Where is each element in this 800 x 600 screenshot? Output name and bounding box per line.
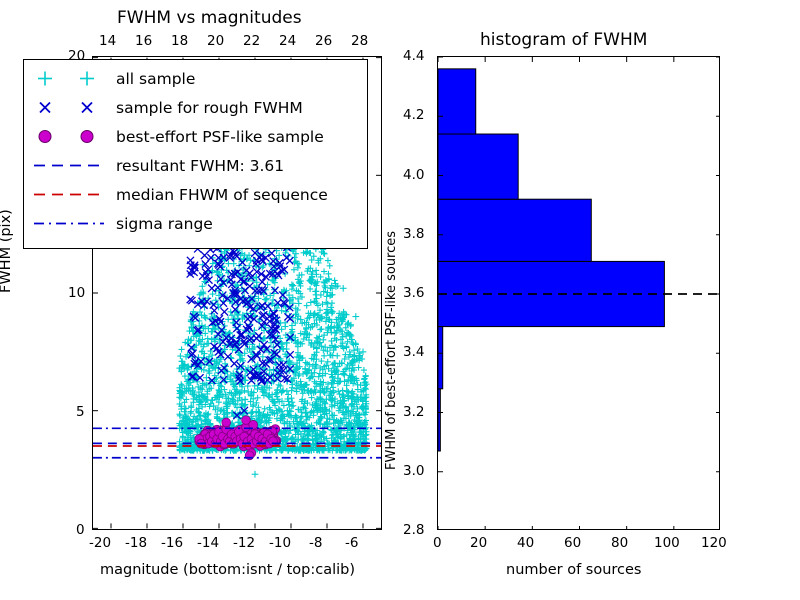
right-xtick-1: 20 <box>470 535 487 551</box>
left-xtick-top-7: 28 <box>351 33 368 49</box>
left-xtick-bottom-5: -10 <box>269 535 291 551</box>
left-panel-title: FWHM vs magnitudes <box>117 8 302 28</box>
legend-item-rough-fwhm[interactable]: sample for rough FWHM <box>24 93 367 122</box>
legend-item-sigma-range[interactable]: sigma range <box>24 209 367 238</box>
right-plot-area[interactable] <box>437 56 720 530</box>
right-ytick-1: 3.0 <box>403 463 424 479</box>
cross-marker-icon <box>24 93 116 122</box>
histogram-layer <box>438 57 720 530</box>
left-xtick-top-0: 14 <box>99 33 116 49</box>
right-xtick-4: 80 <box>611 535 628 551</box>
left-xtick-top-6: 26 <box>315 33 332 49</box>
legend-item-median-fwhm[interactable]: median FHWM of sequence <box>24 180 367 209</box>
right-xtick-3: 60 <box>564 535 581 551</box>
legend-label-sigma-range: sigma range <box>116 215 213 233</box>
legend-label-all-sample: all sample <box>116 70 195 88</box>
left-ytick-0: 0 <box>76 522 85 538</box>
left-ytick-2: 10 <box>68 285 85 301</box>
left-xtick-bottom-6: -8 <box>309 535 322 551</box>
right-xtick-2: 40 <box>517 535 534 551</box>
right-panel-title: histogram of FWHM <box>480 30 647 50</box>
left-yaxis-title: FWHM (pix) <box>0 209 14 293</box>
left-xtick-bottom-1: -18 <box>125 535 147 551</box>
right-ytick-4: 3.6 <box>403 285 424 301</box>
right-ytick-8: 4.4 <box>403 48 424 64</box>
left-xtick-top-1: 16 <box>135 33 152 49</box>
left-xtick-top-4: 22 <box>243 33 260 49</box>
left-xtick-top-3: 20 <box>207 33 224 49</box>
left-xtick-top-5: 24 <box>279 33 296 49</box>
right-xaxis-title: number of sources <box>506 562 642 578</box>
dashdot-line-icon <box>24 209 116 238</box>
right-ytick-0: 2.8 <box>403 522 424 538</box>
legend-item-all-sample[interactable]: all sample <box>24 64 367 93</box>
legend-item-psf-like[interactable]: best-effort PSF-like sample <box>24 122 367 151</box>
legend-box: all sample sample for rough FWHM <box>23 59 368 249</box>
left-xtick-bottom-2: -16 <box>161 535 183 551</box>
legend-label-resultant-fwhm: resultant FWHM: 3.61 <box>116 157 284 175</box>
left-xtick-bottom-3: -14 <box>197 535 219 551</box>
right-ytick-2: 3.2 <box>403 404 424 420</box>
right-xtick-5: 100 <box>654 535 680 551</box>
right-ytick-7: 4.2 <box>403 107 424 123</box>
left-xtick-bottom-7: -6 <box>345 535 358 551</box>
figure-canvas: FWHM vs magnitudes 14 16 18 20 22 24 26 … <box>0 0 800 600</box>
legend-label-rough-fwhm: sample for rough FWHM <box>116 99 303 117</box>
right-xtick-0: 0 <box>433 535 442 551</box>
left-ytick-1: 5 <box>76 404 85 420</box>
right-yaxis-title: FWHM of best-effort PSF-like sources <box>384 231 399 470</box>
right-ytick-3: 3.4 <box>403 344 424 360</box>
left-xtick-top-2: 18 <box>171 33 188 49</box>
left-xtick-bottom-0: -20 <box>89 535 111 551</box>
legend-item-resultant-fwhm[interactable]: resultant FWHM: 3.61 <box>24 151 367 180</box>
right-ytick-5: 3.8 <box>403 226 424 242</box>
plus-marker-icon <box>24 64 116 93</box>
right-xtick-6: 120 <box>701 535 727 551</box>
left-xtick-bottom-4: -12 <box>233 535 255 551</box>
dashed-line-red-icon <box>24 180 116 209</box>
dashed-line-blue-icon <box>24 151 116 180</box>
legend-label-psf-like: best-effort PSF-like sample <box>116 128 324 146</box>
legend-label-median-fwhm: median FHWM of sequence <box>116 186 328 204</box>
right-ytick-6: 4.0 <box>403 167 424 183</box>
left-xaxis-title: magnitude (bottom:isnt / top:calib) <box>100 562 355 578</box>
circle-marker-icon <box>24 122 116 151</box>
